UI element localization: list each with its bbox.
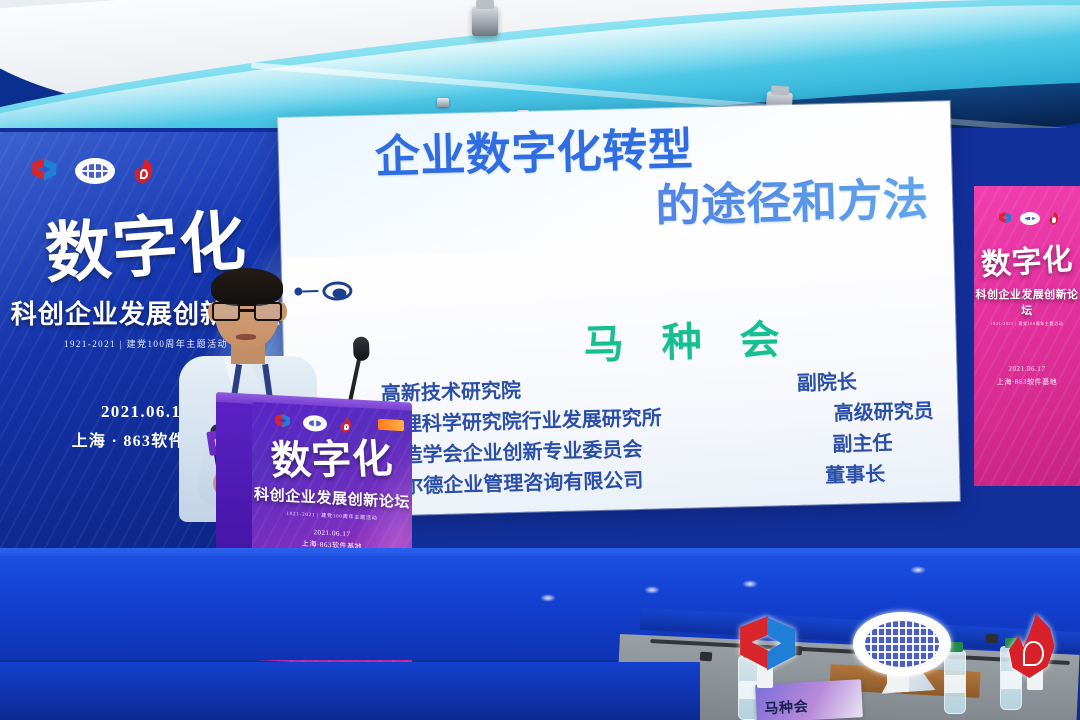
credential-role: 董事长 (825, 458, 886, 489)
ceiling-spotlight-small (437, 98, 449, 107)
ceiling-spotlight (472, 6, 498, 36)
stage-apron-left (0, 662, 700, 720)
right-led-banner: 数字化 科创企业发展创新论坛 1921-2021 | 建党100周年主题活动 2… (974, 186, 1080, 486)
stage-light-reflection (910, 566, 926, 574)
banner-right-date: 2021.06.17 (974, 365, 1080, 373)
eye-icon (322, 281, 352, 301)
stage-light-reflection (742, 580, 758, 588)
red-blue-cube-icon (30, 158, 58, 184)
red-blue-cube-icon (998, 212, 1012, 225)
banner-right-calligraphy: 数字化 (974, 244, 1080, 281)
credential-role: 副院长 (796, 365, 857, 396)
banner-right-anniversary: 1921-2021 | 建党100周年主题活动 (974, 321, 1080, 327)
red-blue-cube-icon (735, 616, 799, 678)
name-card-text: 马种会 (764, 696, 809, 718)
red-flame-icon (132, 158, 156, 184)
banner-right-venue: 上海·863软件基地 (974, 377, 1080, 387)
credential-org: 邦尔德企业管理咨询有限公司 (383, 464, 644, 500)
slide-speaker-name: 马 种 会 (583, 307, 792, 370)
red-flame-icon (339, 417, 353, 434)
slide-credentials: 高新技术研究院 副院长 管理科学研究院行业发展研究所 高级研究员 创造学会企业创… (381, 363, 944, 501)
banner-left-logo-row (30, 158, 156, 184)
foreground-logo-row (735, 608, 1075, 684)
red-flame-icon (1003, 614, 1063, 678)
banner-right-logo-row (998, 212, 1060, 225)
credential-role: 副主任 (832, 427, 893, 458)
red-blue-cube-icon (274, 413, 291, 430)
slide-title: 企业数字化转型 的途径和方法 (374, 115, 937, 241)
stage-light-reflection (540, 594, 556, 602)
blue-oval-grid-icon (853, 612, 951, 676)
podium-anniversary: 1921-2021 | 建党100周年主题活动 (252, 508, 412, 524)
stage-light-reflection (644, 586, 660, 594)
blue-oval-grid-icon (303, 415, 327, 432)
cable-clip (700, 652, 713, 662)
blue-oval-grid-icon (1020, 212, 1040, 225)
speaker-mouth (236, 334, 256, 340)
credential-role: 高级研究员 (833, 395, 934, 427)
podium-badge (378, 419, 404, 431)
credential-org: 创造学会企业创新专业委员会 (382, 433, 643, 469)
podium-logo-row (274, 413, 353, 433)
red-flame-icon (1048, 212, 1060, 225)
podium-branding: 数字化 科创企业发展创新论坛 1921-2021 | 建党100周年主题活动 2… (252, 436, 412, 555)
credential-org: 管理科学研究院行业发展研究所 (381, 401, 662, 437)
glasses-icon (211, 302, 283, 322)
podium-forum-title: 科创企业发展创新论坛 (252, 483, 412, 513)
conference-stage-photo: 数字化 科创企业发展创新论坛 1921-2021 | 建党100周年主题活动 2… (0, 0, 1080, 720)
banner-right-branding: 数字化 科创企业发展创新论坛 1921-2021 | 建党100周年主题活动 2… (974, 248, 1080, 387)
blue-oval-grid-icon (75, 158, 115, 184)
podium-calligraphy: 数字化 (252, 439, 412, 482)
banner-right-forum-title: 科创企业发展创新论坛 (974, 286, 1080, 318)
speaker-hair (211, 268, 283, 306)
